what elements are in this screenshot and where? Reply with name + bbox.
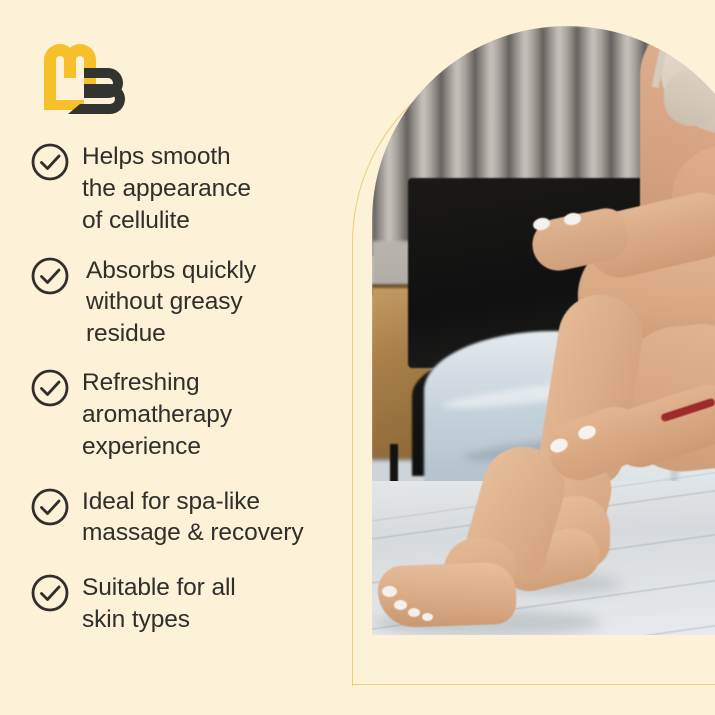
toenail <box>422 613 433 621</box>
brand-logo <box>38 38 134 114</box>
list-item: Refreshing aromatherapy experience <box>30 366 350 463</box>
toenail <box>394 600 407 610</box>
mb-monogram-icon <box>38 38 134 114</box>
toenail <box>382 586 397 597</box>
list-item-label: Refreshing aromatherapy experience <box>82 366 232 463</box>
check-circle-icon <box>30 142 70 182</box>
model-bra-cup <box>664 70 715 126</box>
check-circle-icon <box>30 256 70 296</box>
lifestyle-photo <box>372 26 715 635</box>
list-item-label: Suitable for all skin types <box>82 571 236 636</box>
list-item-label: Absorbs quickly without greasy residue <box>82 254 256 351</box>
list-item: Absorbs quickly without greasy residue <box>30 254 350 351</box>
check-circle-icon <box>30 573 70 613</box>
list-item: Suitable for all skin types <box>30 571 350 636</box>
decorative-bottom-rule <box>352 684 715 685</box>
toenail <box>408 608 420 617</box>
model-front-foot <box>377 562 517 629</box>
list-item: Ideal for spa-like massage & recovery <box>30 485 350 550</box>
product-benefits-graphic: Helps smooth the appearance of cellulite… <box>0 0 715 715</box>
photo-scene <box>372 26 715 635</box>
check-circle-icon <box>30 487 70 527</box>
list-item-label: Ideal for spa-like massage & recovery <box>82 485 304 550</box>
product-photo-panel <box>352 26 715 666</box>
list-item-label: Helps smooth the appearance of cellulite <box>82 140 251 237</box>
list-item: Helps smooth the appearance of cellulite <box>30 140 350 237</box>
check-circle-icon <box>30 368 70 408</box>
benefits-list: Helps smooth the appearance of cellulite… <box>30 140 350 636</box>
